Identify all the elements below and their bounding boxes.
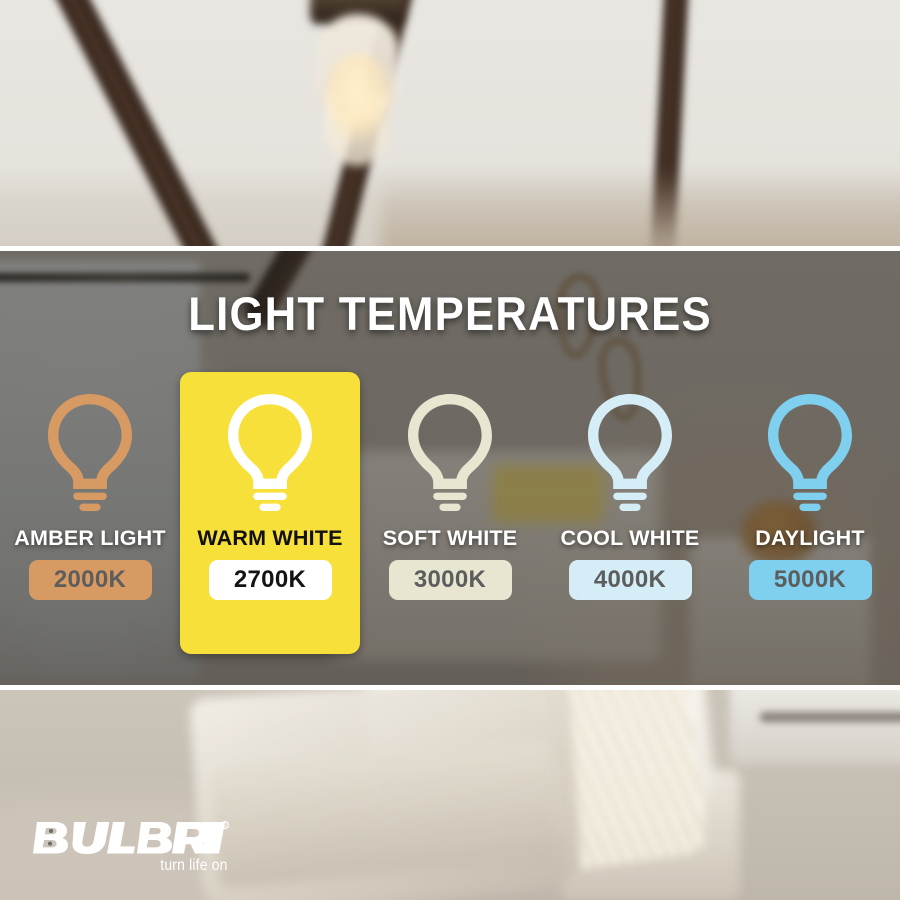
temperature-name: DAYLIGHT xyxy=(755,526,865,551)
divider-top xyxy=(0,246,900,251)
kelvin-badge: 5000K xyxy=(749,560,872,600)
furniture-shadow xyxy=(760,712,900,722)
brand-tagline: turn life on xyxy=(53,857,233,875)
temperature-card-amber-light[interactable]: AMBER LIGHT 2000K xyxy=(0,372,180,654)
ceiling-blur-layer xyxy=(0,0,900,249)
crystal-chandelier xyxy=(292,0,422,175)
temperature-name: SOFT WHITE xyxy=(383,526,518,551)
light-bulb-icon xyxy=(398,388,502,516)
svg-text:R: R xyxy=(223,823,227,829)
divider-bottom xyxy=(0,685,900,690)
temperature-card-soft-white[interactable]: SOFT WHITE 3000K xyxy=(360,372,540,654)
temperature-card-row: AMBER LIGHT 2000K WARM WHITE 2700K SOFT … xyxy=(0,372,900,654)
side-furniture xyxy=(730,690,900,764)
light-bulb-icon xyxy=(218,388,322,516)
temperature-card-daylight[interactable]: DAYLIGHT 5000K xyxy=(720,372,900,654)
light-bulb-icon xyxy=(758,388,862,516)
kelvin-badge: 2000K xyxy=(29,560,152,600)
light-bulb-icon xyxy=(578,388,682,516)
brand-logo: R turn life on xyxy=(33,818,233,875)
kelvin-badge: 2700K xyxy=(209,560,332,600)
temperature-card-cool-white[interactable]: COOL WHITE 4000K xyxy=(540,372,720,654)
ceiling-shadow xyxy=(380,170,900,249)
light-temperatures-infographic: LIGHT TEMPERATURES AMBER LIGHT 2000K WAR… xyxy=(0,0,900,900)
wood-beam-left xyxy=(13,0,258,249)
temperature-card-warm-white[interactable]: WARM WHITE 2700K xyxy=(180,372,360,654)
kelvin-badge: 4000K xyxy=(569,560,692,600)
chandelier-glow xyxy=(322,54,394,146)
temperature-name: WARM WHITE xyxy=(197,526,342,551)
light-bulb-icon xyxy=(38,388,142,516)
temperature-name: COOL WHITE xyxy=(561,526,700,551)
temperature-name: AMBER LIGHT xyxy=(14,526,166,551)
top-photo-panel xyxy=(0,0,900,249)
bulbrite-wordmark-icon: R xyxy=(33,818,233,854)
page-title: LIGHT TEMPERATURES xyxy=(32,286,869,341)
kelvin-badge: 3000K xyxy=(389,560,512,600)
